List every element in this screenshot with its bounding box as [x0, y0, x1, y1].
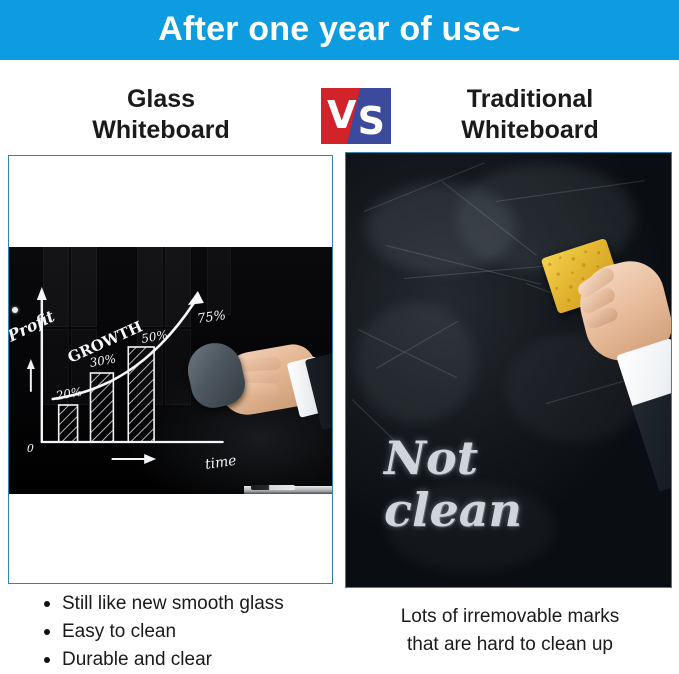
traditional-chalkboard-photo: Not clean	[346, 153, 671, 587]
left-column-title-line2: Whiteboard	[6, 115, 316, 146]
marker-pen	[251, 485, 295, 490]
list-item: Still like new smooth glass	[40, 590, 340, 618]
right-column-title: Traditional Whiteboard	[390, 84, 670, 145]
right-drawback-caption: Lots of irremovable marks that are hard …	[345, 603, 675, 658]
header-banner: After one year of use~	[0, 0, 679, 60]
right-caption-line2: that are hard to clean up	[345, 631, 675, 659]
glass-whiteboard-panel: 0 Profit GROWTH 20% 30% 50% 75% time	[8, 155, 333, 584]
list-item: Durable and clear	[40, 646, 340, 674]
vs-letter-v: V	[327, 96, 356, 134]
right-column-title-line2: Whiteboard	[390, 115, 670, 146]
left-column-title-line1: Glass	[6, 84, 316, 115]
chalkboard-text-line1: Not	[384, 433, 614, 485]
hand-with-sponge	[582, 253, 671, 433]
left-benefits-list: Still like new smooth glass Easy to clea…	[40, 590, 340, 674]
chalkboard-handwriting: Not clean	[384, 433, 614, 536]
svg-text:75%: 75%	[196, 308, 227, 327]
glass-whiteboard-photo: 0 Profit GROWTH 20% 30% 50% 75% time	[9, 247, 332, 494]
svg-text:50%: 50%	[140, 328, 169, 346]
right-column-title-line1: Traditional	[390, 84, 670, 115]
svg-text:20%: 20%	[54, 385, 83, 404]
vs-letter-s: S	[358, 102, 385, 140]
traditional-whiteboard-panel: Not clean	[345, 152, 672, 588]
svg-text:Profit: Profit	[9, 306, 58, 346]
svg-text:0: 0	[27, 442, 34, 455]
vs-badge-icon: V S	[321, 88, 391, 144]
list-item: Easy to clean	[40, 618, 340, 646]
left-column-title: Glass Whiteboard	[6, 84, 316, 145]
hand-with-eraser	[189, 333, 332, 453]
chalkboard-text-line2: clean	[384, 485, 614, 537]
page-title: After one year of use~	[158, 12, 520, 46]
svg-text:time: time	[204, 453, 237, 473]
right-caption-line1: Lots of irremovable marks	[345, 603, 675, 631]
